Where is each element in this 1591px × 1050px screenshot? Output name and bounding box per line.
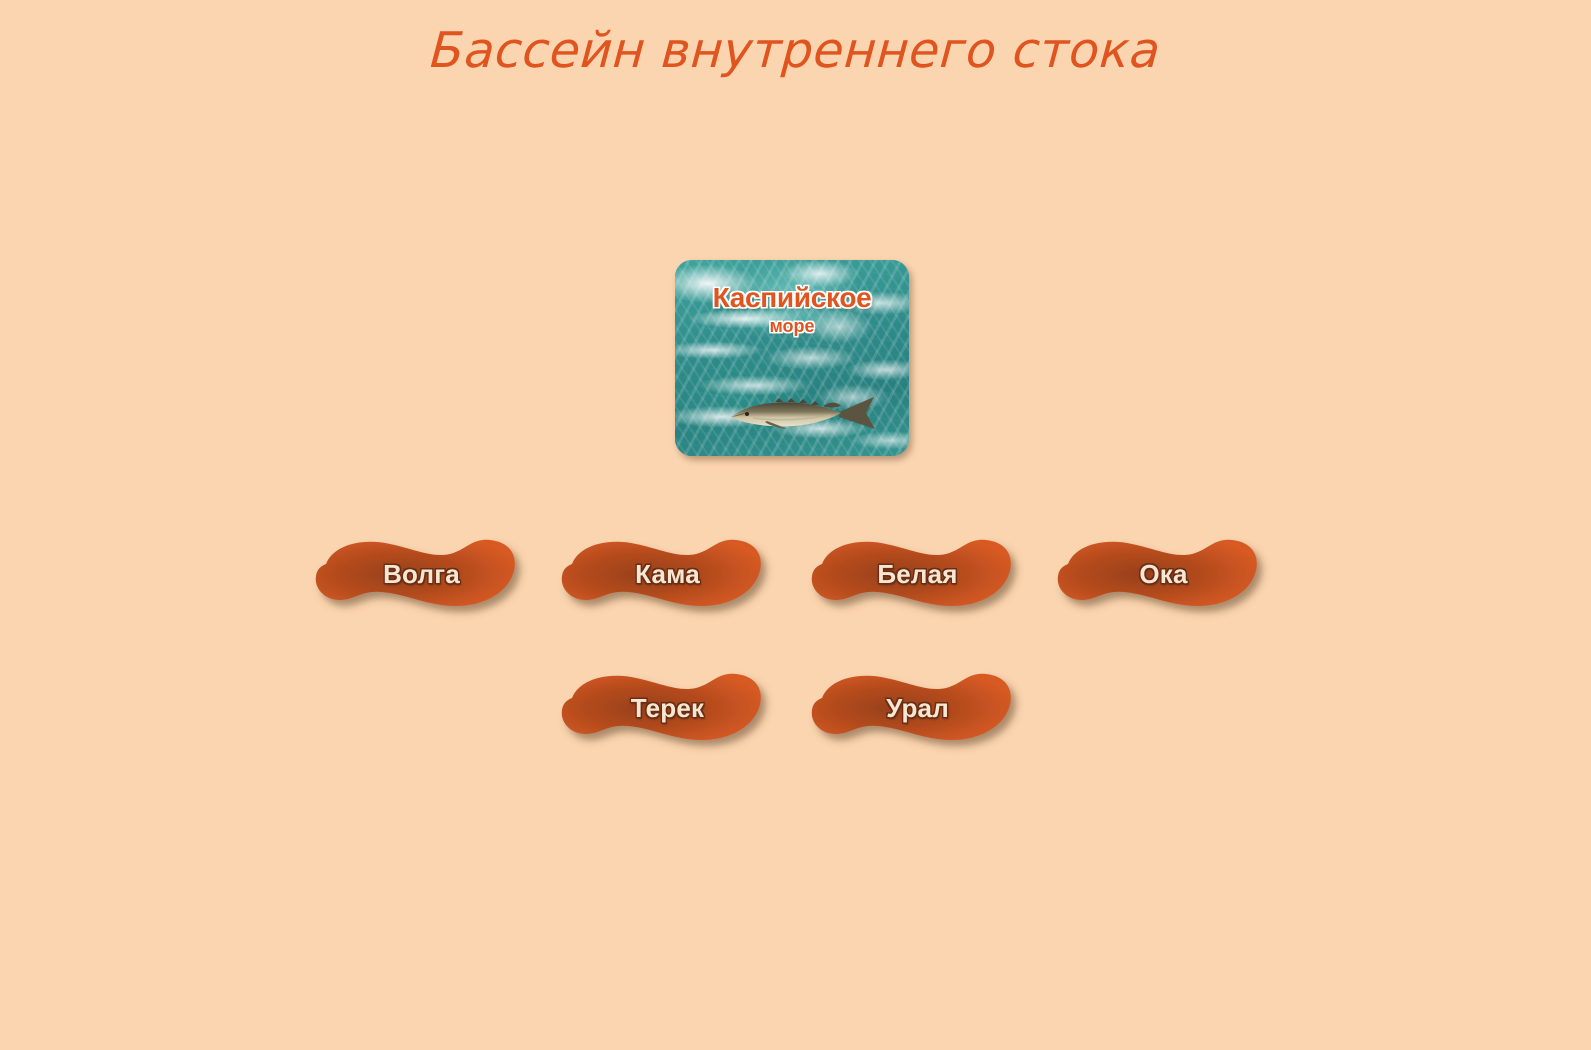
river-item-volga[interactable]: Волга [310,534,521,614]
river-blob-shape [806,668,1017,748]
river-blob-shape [556,668,767,748]
sea-name: Каспийское [675,284,909,312]
river-blob-shape [556,534,767,614]
river-list: Волга Кама Белая Ока Терек [0,0,1591,1050]
river-item-terek[interactable]: Терек [556,668,767,748]
river-blob-shape [310,534,521,614]
sea-subname: море [675,317,909,335]
slide-canvas: Бассейн внутреннего стока Каспийское мор… [0,0,1591,1050]
sea-card-label: Каспийское море [675,284,909,335]
river-item-belaya[interactable]: Белая [806,534,1017,614]
river-item-ural[interactable]: Урал [806,668,1017,748]
river-item-kama[interactable]: Кама [556,534,767,614]
river-blob-shape [806,534,1017,614]
river-item-oka[interactable]: Ока [1052,534,1263,614]
sturgeon-icon [727,388,875,438]
river-blob-shape [1052,534,1263,614]
